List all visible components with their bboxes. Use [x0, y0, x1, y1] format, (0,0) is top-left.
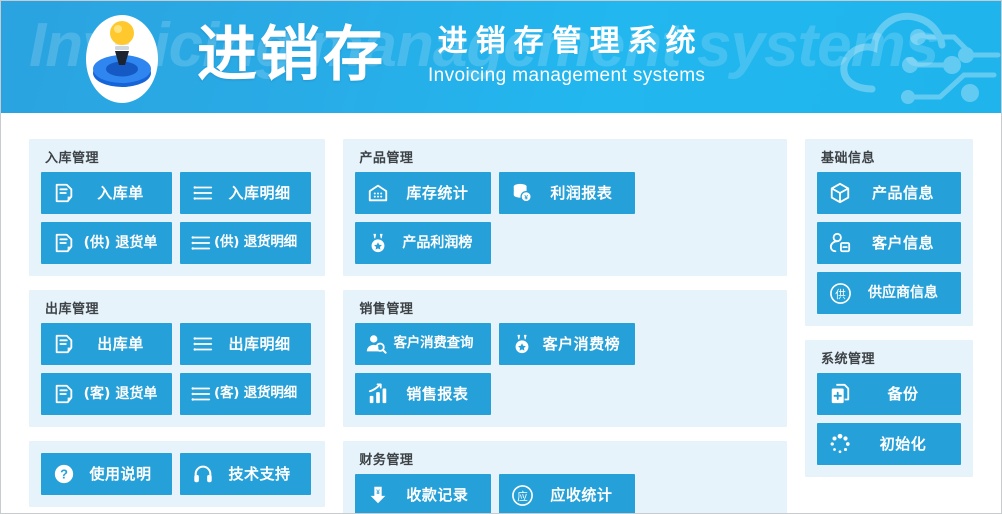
button-customer-return-order[interactable]: (客) 退货单 [41, 373, 172, 415]
medal-star-icon [365, 230, 391, 256]
copy-plus-icon [827, 381, 853, 407]
button-label: 技术支持 [220, 467, 301, 482]
person-card-icon [827, 230, 853, 256]
button-label: (客) 退货单 [81, 387, 162, 401]
header-subtitle-en: Invoicing management systems [428, 64, 705, 89]
button-label: 客户消费查询 [387, 337, 481, 351]
card-title-sales: 销售管理 [359, 302, 775, 315]
card-title-system: 系统管理 [821, 352, 961, 365]
button-outbound-detail[interactable]: 出库明细 [180, 323, 311, 365]
svg-text:?: ? [60, 467, 68, 482]
brand-title: 进销存 [197, 25, 386, 85]
headset-icon [190, 461, 216, 487]
column-left: 入库管理 入库单 入库明细 [29, 139, 325, 507]
button-label: 供应商信息 [857, 286, 951, 300]
button-label: 利润报表 [539, 186, 625, 201]
card-finance: 财务管理 ¥ 收款记录 应 应收统计 [343, 441, 787, 514]
button-receivable-statistics[interactable]: 应 应收统计 [499, 474, 635, 514]
button-inbound-detail[interactable]: 入库明细 [180, 172, 311, 214]
note-document-icon [51, 230, 77, 256]
button-supplier-return-detail[interactable]: (供) 退货明细 [180, 222, 311, 264]
card-sales: 销售管理 客户消费查询 客户消费榜 [343, 290, 787, 427]
list-lines-icon [190, 331, 216, 357]
button-tech-support[interactable]: 技术支持 [180, 453, 311, 495]
button-label: 产品信息 [857, 186, 951, 201]
button-product-profit-rank[interactable]: 产品利润榜 [355, 222, 491, 264]
button-label: 使用说明 [81, 467, 162, 482]
button-outbound-order[interactable]: 出库单 [41, 323, 172, 365]
button-label: (客) 退货明细 [212, 387, 301, 401]
button-receipt-records[interactable]: ¥ 收款记录 [355, 474, 491, 514]
button-label: 销售报表 [395, 387, 481, 402]
card-product: 产品管理 库存统计 ¥ 利润报表 [343, 139, 787, 276]
button-label: 应收统计 [539, 488, 625, 503]
button-label: 入库单 [81, 186, 162, 201]
header-title-zone: 进销存 进销存管理系统 Invoicing management systems [197, 1, 705, 113]
column-middle: 产品管理 库存统计 ¥ 利润报表 [343, 139, 787, 514]
warehouse-icon [365, 180, 391, 206]
button-label: 出库明细 [220, 337, 301, 352]
list-lines-icon [190, 180, 216, 206]
app-window: Invoicing management systems [0, 0, 1002, 514]
medal-star-icon [509, 331, 535, 357]
button-customer-consumption-rank[interactable]: 客户消费榜 [499, 323, 635, 365]
button-inbound-order[interactable]: 入库单 [41, 172, 172, 214]
button-label: 收款记录 [395, 488, 481, 503]
button-label: 库存统计 [395, 186, 481, 201]
button-label: 产品利润榜 [395, 236, 481, 250]
column-right: 基础信息 产品信息 客户信息 [805, 139, 973, 477]
list-lines-icon [190, 230, 212, 256]
card-title-basic-info: 基础信息 [821, 151, 961, 164]
ying-circle-icon: 应 [509, 482, 535, 508]
card-system: 系统管理 备份 初始化 [805, 340, 973, 477]
button-label: 备份 [857, 387, 951, 402]
button-profit-report[interactable]: ¥ 利润报表 [499, 172, 635, 214]
cloud-network-icon [832, 1, 1001, 113]
svg-text:¥: ¥ [525, 194, 529, 201]
button-sales-report[interactable]: 销售报表 [355, 373, 491, 415]
button-label: 出库单 [81, 337, 162, 352]
button-supplier-return-order[interactable]: (供) 退货单 [41, 222, 172, 264]
card-title-finance: 财务管理 [359, 453, 775, 466]
svg-text:¥: ¥ [377, 489, 381, 496]
box-3d-icon [827, 180, 853, 206]
button-label: (供) 退货明细 [212, 236, 301, 250]
list-lines-icon [190, 381, 212, 407]
button-customer-consumption-query[interactable]: 客户消费查询 [355, 323, 491, 365]
button-stock-statistics[interactable]: 库存统计 [355, 172, 491, 214]
button-label: 客户消费榜 [539, 337, 625, 352]
button-supplier-info[interactable]: 供 供应商信息 [817, 272, 961, 314]
button-label: 初始化 [857, 437, 951, 452]
button-label: 客户信息 [857, 236, 951, 251]
note-document-icon [51, 381, 77, 407]
menu-board: 入库管理 入库单 入库明细 [1, 113, 1001, 513]
card-inbound: 入库管理 入库单 入库明细 [29, 139, 325, 276]
card-title-outbound: 出库管理 [45, 302, 313, 315]
svg-text:供: 供 [835, 287, 846, 300]
card-title-product: 产品管理 [359, 151, 775, 164]
note-document-icon [51, 180, 77, 206]
button-backup[interactable]: 备份 [817, 373, 961, 415]
button-label: (供) 退货单 [81, 236, 162, 250]
button-customer-info[interactable]: 客户信息 [817, 222, 961, 264]
header-subtitle-cn: 进销存管理系统 [430, 23, 704, 61]
note-document-icon [51, 331, 77, 357]
coin-stack-yuan-icon: ¥ [509, 180, 535, 206]
question-mark-circle-icon: ? [51, 461, 77, 487]
bulb-disc-logo-icon [76, 13, 168, 105]
button-customer-return-detail[interactable]: (客) 退货明细 [180, 373, 311, 415]
card-basic-info: 基础信息 产品信息 客户信息 [805, 139, 973, 326]
card-help: ? 使用说明 技术支持 [29, 441, 325, 507]
card-title-inbound: 入库管理 [45, 151, 313, 164]
button-label: 入库明细 [220, 186, 301, 201]
person-search-icon [365, 331, 387, 357]
app-header: Invoicing management systems [1, 1, 1001, 113]
bar-chart-up-icon [365, 381, 391, 407]
button-initialize[interactable]: 初始化 [817, 423, 961, 465]
spinner-dots-icon [827, 431, 853, 457]
svg-text:应: 应 [517, 489, 528, 502]
gong-circle-icon: 供 [827, 280, 853, 306]
button-user-manual[interactable]: ? 使用说明 [41, 453, 172, 495]
arrow-down-yuan-icon: ¥ [365, 482, 391, 508]
button-product-info[interactable]: 产品信息 [817, 172, 961, 214]
card-outbound: 出库管理 出库单 出库明细 [29, 290, 325, 427]
